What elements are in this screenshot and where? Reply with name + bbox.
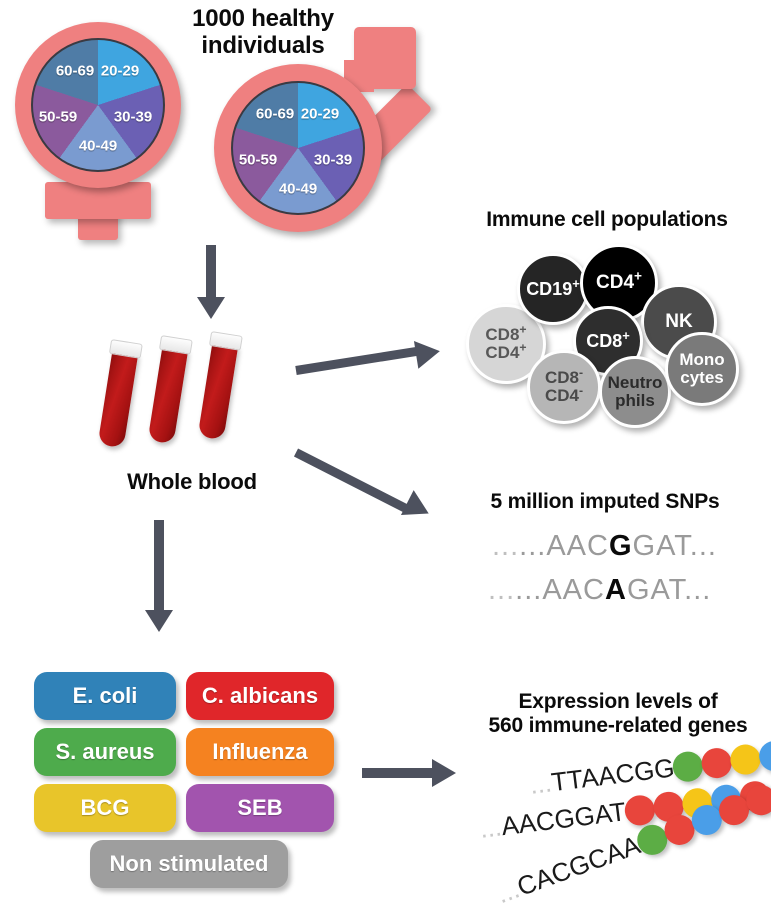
- expression-bead: [758, 739, 771, 772]
- stimulus-label: BCG: [81, 795, 130, 821]
- male-slice-label-60-69: 60-69: [256, 106, 294, 123]
- male-slice-label-20-29: 20-29: [301, 106, 339, 123]
- cell-label: Neutrophils: [608, 374, 663, 409]
- snp-prefix-dots: ...: [492, 530, 519, 562]
- immune-cell-cluster: CD8+CD4+ CD19+ CD4+ NK CD8+ CD8-CD4- Neu…: [460, 240, 765, 425]
- male-slice-label-30-39: 30-39: [314, 152, 352, 169]
- male-slice-label-50-59: 50-59: [239, 152, 277, 169]
- stimulus-label: SEB: [237, 795, 282, 821]
- female-slice-label-50-59: 50-59: [39, 109, 77, 126]
- arrow-head-icon: [432, 759, 456, 787]
- stimulus-label: E. coli: [73, 683, 138, 709]
- snp-allele-row: ......AACGGAT...: [492, 530, 717, 563]
- cell-cd8neg-cd4neg: CD8-CD4-: [527, 350, 601, 424]
- stimulus-e-coli[interactable]: E. coli: [34, 672, 176, 720]
- blood-tube-body: [148, 345, 189, 444]
- arrow-blood-to-snps: [296, 440, 476, 550]
- snp-prefix: ...AAC: [515, 574, 605, 606]
- whole-blood-label: Whole blood: [92, 470, 292, 495]
- strand-sequence-bases: TTAACGG: [550, 752, 676, 797]
- expression-title-line1: Expression levels of: [468, 690, 768, 714]
- arrow-blood-to-immune: [296, 330, 466, 390]
- arrow-shaft: [295, 346, 421, 375]
- stimulus-bcg[interactable]: BCG: [34, 784, 176, 832]
- stimulus-label: Influenza: [212, 739, 307, 765]
- female-slice-label-40-49: 40-49: [79, 138, 117, 155]
- female-slice-label-30-39: 30-39: [114, 109, 152, 126]
- arrow-stimuli-to-expression: [362, 760, 472, 790]
- female-slice-label-60-69: 60-69: [56, 63, 94, 80]
- female-slice-label-20-29: 20-29: [101, 63, 139, 80]
- expression-strands: ...TTAACGG ...AACGGAT ...CACGCAA: [462, 748, 771, 918]
- arrow-shaft: [206, 245, 216, 299]
- expression-bead: [700, 746, 733, 779]
- arrow-shaft: [294, 448, 412, 514]
- cell-label: NK: [665, 312, 692, 332]
- blood-tube-body: [98, 349, 139, 448]
- strand-sequence-bases: CACGCAA: [513, 830, 644, 902]
- blood-tube: [197, 331, 246, 447]
- strand-sequence: ...CACGCAA: [493, 830, 645, 911]
- snp-prefix: ...AAC: [519, 530, 609, 562]
- stimulus-label: S. aureus: [55, 739, 154, 765]
- snp-sequences: ......AACGGAT... ......AACAGAT...: [492, 530, 732, 620]
- cell-label: CD8-CD4-: [545, 369, 583, 404]
- arrow-shaft: [154, 520, 164, 612]
- expression-title-line2: 560 immune-related genes: [468, 714, 768, 738]
- blood-tube-body: [198, 341, 239, 440]
- cell-label: CD8+CD4+: [485, 326, 526, 361]
- cell-cd19-pos: CD19+: [517, 253, 589, 325]
- arrow-head-icon: [145, 610, 173, 632]
- arrow-head-icon: [197, 297, 225, 319]
- blood-tube: [147, 335, 196, 451]
- strand-sequence: ...AACGGAT: [478, 796, 628, 845]
- cell-label: CD19+: [526, 280, 580, 299]
- snp-suffix: GAT...: [627, 574, 711, 606]
- expression-section-title: Expression levels of 560 immune-related …: [468, 690, 768, 737]
- stimulus-label: C. albicans: [202, 683, 318, 709]
- blood-tube: [97, 339, 146, 455]
- cell-label: CD8+: [586, 332, 630, 351]
- snp-allele-row: ......AACAGAT...: [488, 574, 711, 607]
- snp-prefix-dots: ...: [488, 574, 515, 606]
- stimulus-label: Non stimulated: [110, 851, 269, 877]
- stimulus-influenza[interactable]: Influenza: [186, 728, 334, 776]
- arrow-head-icon: [414, 337, 442, 368]
- cell-neutrophils: Neutrophils: [599, 356, 671, 428]
- cell-label: Monocytes: [679, 351, 724, 386]
- expression-bead: [623, 793, 656, 826]
- stimuli-group: E. coli C. albicans S. aureus Influenza …: [34, 672, 334, 894]
- whole-blood-group: Whole blood: [96, 330, 316, 500]
- strand-sequence-bases: AACGGAT: [500, 796, 628, 841]
- arrow-head-icon: [401, 490, 435, 526]
- arrow-shaft: [362, 768, 434, 778]
- snp-suffix: GAT...: [633, 530, 717, 562]
- female-symbol: 20-29 30-39 40-49 50-59 60-69: [8, 14, 188, 244]
- snp-variant-base: A: [605, 574, 627, 606]
- stimulus-c-albicans[interactable]: C. albicans: [186, 672, 334, 720]
- snp-section-title: 5 million imputed SNPs: [455, 490, 755, 514]
- stimulus-non-stimulated[interactable]: Non stimulated: [90, 840, 288, 888]
- male-slice-label-40-49: 40-49: [279, 181, 317, 198]
- immune-section-title: Immune cell populations: [452, 208, 762, 232]
- stimulus-seb[interactable]: SEB: [186, 784, 334, 832]
- cell-label: CD4+: [596, 273, 642, 293]
- cell-monocytes: Monocytes: [665, 332, 739, 406]
- snp-variant-base: G: [609, 530, 633, 562]
- stimulus-s-aureus[interactable]: S. aureus: [34, 728, 176, 776]
- expression-bead: [672, 749, 705, 782]
- expression-bead: [729, 742, 762, 775]
- male-symbol: 20-29 30-39 40-49 50-59 60-69: [196, 26, 436, 246]
